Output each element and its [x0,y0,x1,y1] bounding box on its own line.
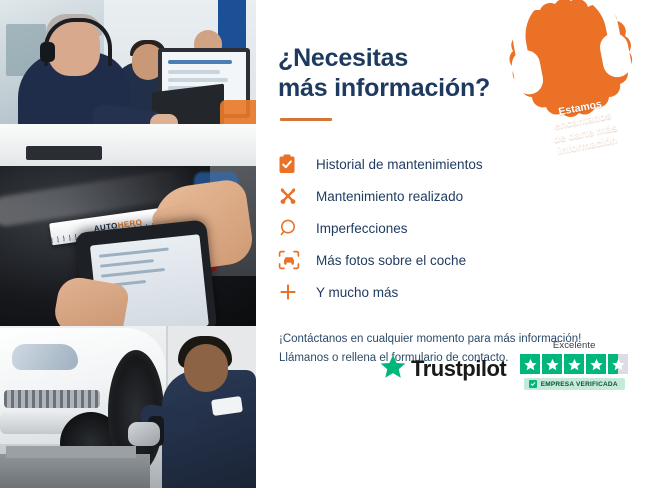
star-half-5 [608,354,628,374]
badge-content: Estamos encantados de darte más informac… [492,0,649,140]
title-divider [280,118,332,121]
feature-item-more: Y mucho más [278,276,650,308]
headline-line-2: más información? [278,74,508,104]
mechanic-head [184,344,228,392]
headset-earcup [40,42,55,62]
star-filled-4 [586,354,606,374]
content-panel: ¿Necesitas más información? [256,0,650,488]
trustpilot-widget[interactable]: Trustpilot Excelente [380,340,628,390]
headline-line-1: ¿Necesitas [278,44,408,72]
rating-label: Excelente [553,340,596,351]
information-promo-card: AUTOHERO [0,0,650,488]
feature-item-imperfections: Imperfecciones [278,212,650,244]
car-scan-icon [278,250,308,270]
car-inspection-ruler-photo: AUTOHERO [0,166,256,326]
feature-item-more-photos: Más fotos sobre el coche [278,244,650,276]
keyboard [26,146,102,160]
car-headlight [12,344,78,370]
plus-icon [278,282,308,302]
magnifier-icon [278,218,308,238]
clipboard-check-icon [278,154,308,174]
feature-list: Historial de mantenimientos M [278,148,650,308]
trustpilot-star-icon [380,354,406,384]
verified-label: EMPRESA VERIFICADA [541,381,618,388]
call-center-agents-photo [0,0,256,166]
car-lift-arm [6,446,136,458]
verified-business-badge: EMPRESA VERIFICADA [524,378,625,390]
feature-label: Mantenimiento realizado [316,189,463,204]
feature-label: Y mucho más [316,285,398,300]
star-filled-2 [542,354,562,374]
trustpilot-wordmark: Trustpilot [411,356,506,382]
photo-column: AUTOHERO [0,0,256,488]
feature-item-maintenance-done: Mantenimiento realizado [278,180,650,212]
feature-label: Historial de mantenimientos [316,157,483,172]
promo-starburst-badge: Estamos encantados de darte más informac… [504,0,638,128]
car-lift-base [0,454,150,488]
page-title: ¿Necesitas más información? [278,44,508,103]
star-filled-1 [520,354,540,374]
trustpilot-logo: Trustpilot [380,354,506,390]
feature-label: Más fotos sobre el coche [316,253,466,268]
feature-label: Imperfecciones [316,221,408,236]
star-rating [520,354,628,374]
tools-icon [278,186,308,206]
mechanic-glove [128,422,160,446]
verified-check-icon [529,380,537,388]
star-filled-3 [564,354,584,374]
feature-item-maintenance-history: Historial de mantenimientos [278,148,650,180]
mechanic-wheel-photo [0,326,256,488]
car-grille [4,390,100,408]
trustpilot-rating: Excelente [520,340,628,390]
